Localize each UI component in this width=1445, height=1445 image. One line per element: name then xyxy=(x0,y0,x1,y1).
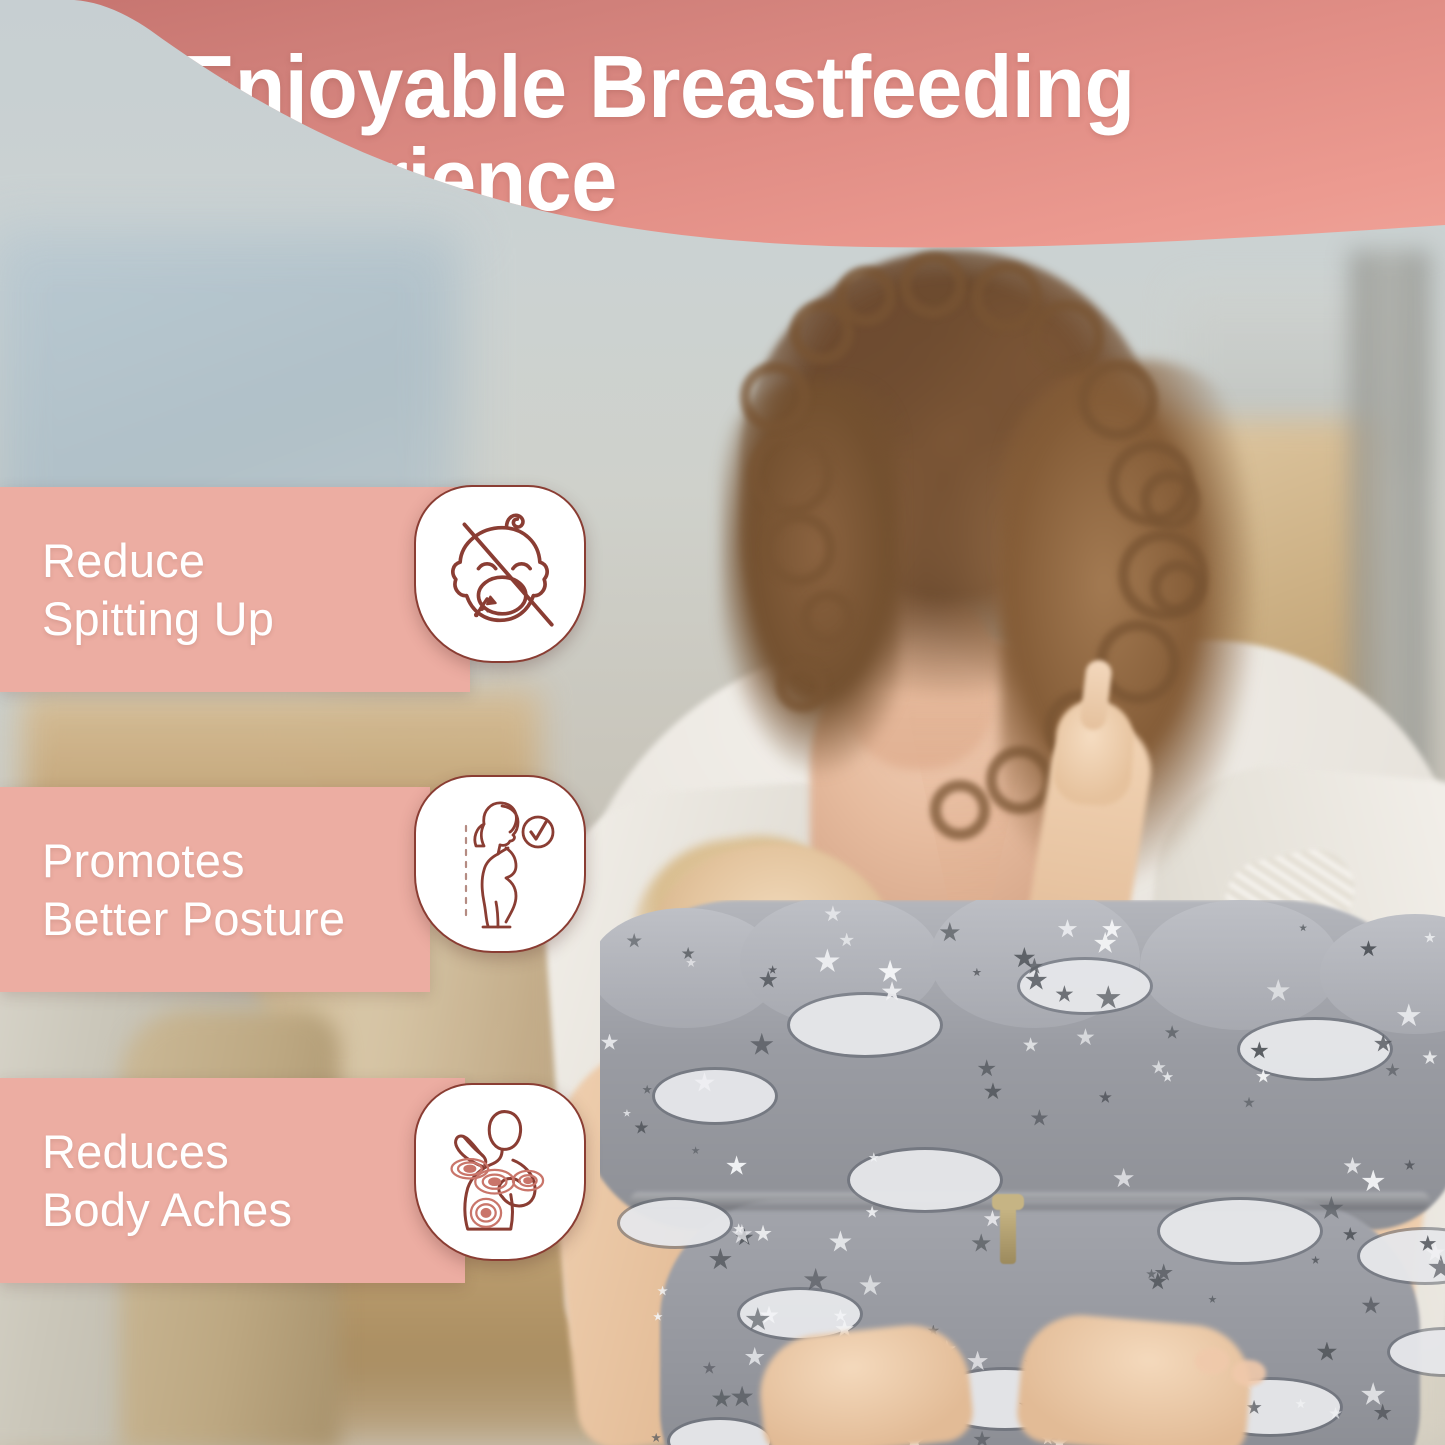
hair-curl xyxy=(972,262,1042,332)
good-posture-check-icon xyxy=(414,775,586,953)
hair-curl xyxy=(1150,560,1206,616)
hair-curl xyxy=(776,660,828,712)
feature-badge-reduces-body-aches[interactable]: Reduces Body Aches xyxy=(0,1078,292,1283)
hair-curl xyxy=(1140,470,1200,530)
body-pain-points-icon xyxy=(414,1083,586,1261)
hair-curl xyxy=(748,430,834,516)
pillow-zipper-pull xyxy=(992,1194,1024,1210)
hair-curl xyxy=(762,512,836,586)
feature-badge-promotes-better-posture[interactable]: Promotes Better Posture xyxy=(0,787,345,992)
hair-curl xyxy=(836,266,896,326)
hair-curl xyxy=(740,362,810,432)
pillow-star xyxy=(651,1433,661,1443)
feature-badge-reduce-spitting-up[interactable]: Reduce Spitting Up xyxy=(0,487,274,692)
pillow-cloud xyxy=(790,995,940,1055)
pillow-scallop xyxy=(1140,900,1340,1030)
pillow-cloud xyxy=(620,1200,730,1246)
feature-label: Reduces Body Aches xyxy=(42,1123,292,1238)
feature-label: Promotes Better Posture xyxy=(42,832,345,947)
hair-curl xyxy=(930,780,990,840)
product-feature-poster: Enjoyable BreastfeedingExperience Reduce… xyxy=(0,0,1445,1445)
no-baby-spit-up-icon xyxy=(414,485,586,663)
page-title-line-1: Enjoyable Breastfeeding xyxy=(180,37,1135,136)
fingernail xyxy=(1232,1360,1266,1386)
pillow-seam xyxy=(630,1192,1430,1210)
hair-curl xyxy=(1078,360,1158,440)
feature-label: Reduce Spitting Up xyxy=(42,532,274,647)
pillow-cloud xyxy=(1160,1200,1320,1262)
hair-curl xyxy=(800,590,856,646)
pillow-cloud xyxy=(655,1070,775,1122)
hair-curl xyxy=(1030,300,1104,374)
fingernail xyxy=(1195,1348,1229,1374)
hair-curl xyxy=(900,252,966,318)
hair-curl xyxy=(986,746,1054,814)
